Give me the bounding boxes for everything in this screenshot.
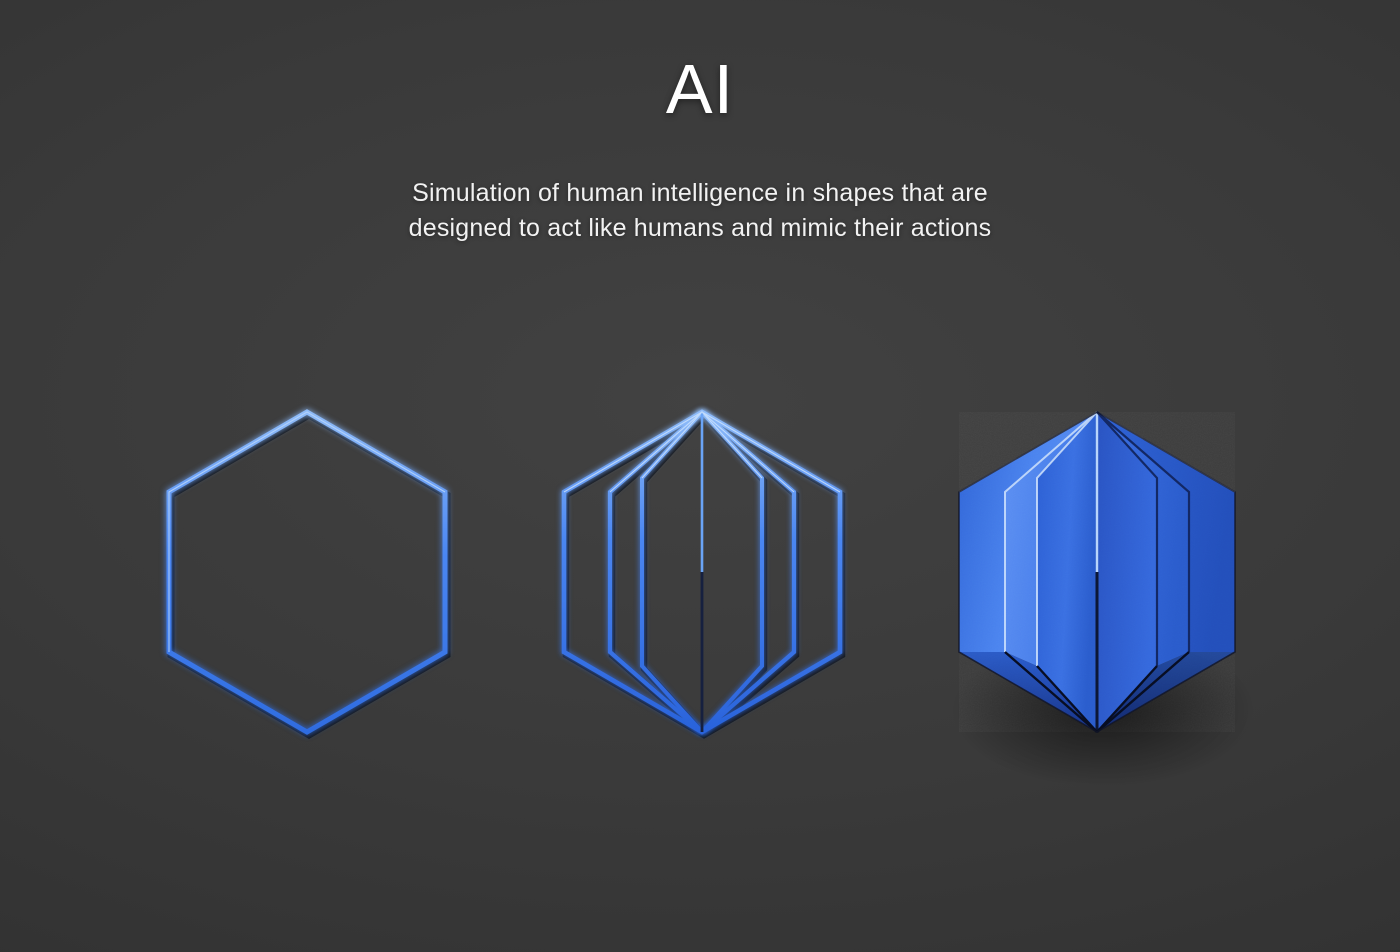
faceted-wireframe-shadow — [566, 415, 842, 735]
subtitle-line-1: Simulation of human intelligence in shap… — [0, 176, 1400, 211]
faceted-wireframe-group — [564, 412, 842, 735]
hexagon-outline-highlight — [169, 412, 445, 652]
subtitle-line-2: designed to act like humans and mimic th… — [0, 211, 1400, 246]
shape-hexagon-faceted-wireframe — [522, 380, 882, 780]
subtitle: Simulation of human intelligence in shap… — [0, 176, 1400, 245]
slide-stage: AI Simulation of human intelligence in s… — [0, 0, 1400, 952]
header: AI Simulation of human intelligence in s… — [0, 54, 1400, 245]
page-title: AI — [0, 54, 1400, 124]
hexagon-outline-shadow — [171, 415, 447, 735]
shape-hexagon-faceted-solid — [917, 380, 1277, 780]
shape-row — [0, 380, 1400, 800]
shape-hexagon-outline — [127, 380, 487, 780]
